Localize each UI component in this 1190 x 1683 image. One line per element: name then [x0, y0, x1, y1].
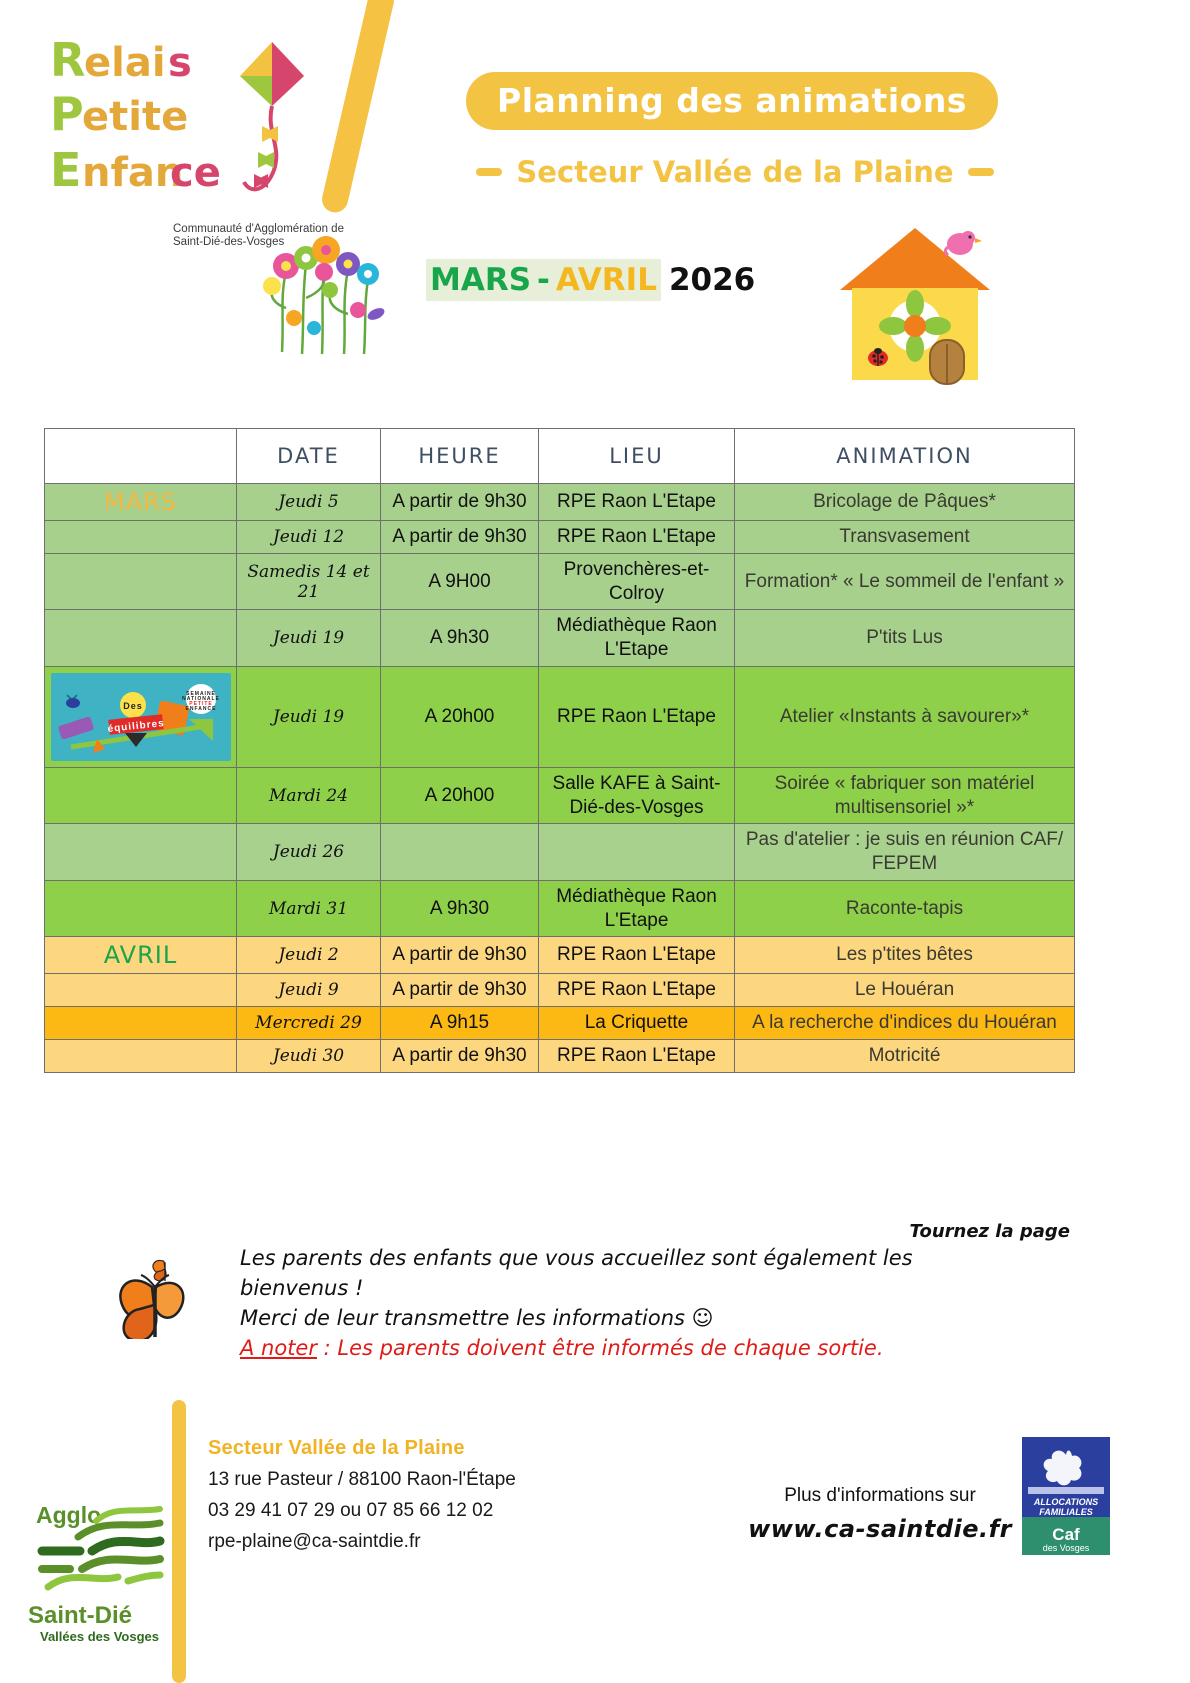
month-label-mars: MARS	[45, 484, 237, 521]
cell-heure	[381, 824, 539, 881]
cell-animation: Les p'tites bêtes	[735, 937, 1075, 974]
cell-animation: P'tits Lus	[735, 610, 1075, 667]
col-header-animation: ANIMATION	[735, 429, 1075, 484]
cell-date: Samedis 14 et 21	[237, 553, 381, 610]
table-row: Jeudi 9A partir de 9h30RPE Raon L'EtapeL…	[45, 974, 1075, 1007]
cell-animation: Raconte-tapis	[735, 880, 1075, 937]
cell-lieu: Médiathèque Raon L'Etape	[539, 880, 735, 937]
cell-lieu: RPE Raon L'Etape	[539, 666, 735, 767]
table-header-row: DATE HEURE LIEU ANIMATION	[45, 429, 1075, 484]
flowers-illustration-icon	[258, 218, 398, 358]
cell-animation: Le Houéran	[735, 974, 1075, 1007]
table-row: AVRILJeudi 2A partir de 9h30RPE Raon L'E…	[45, 937, 1075, 974]
table-row: Jeudi 12A partir de 9h30RPE Raon L'Etape…	[45, 521, 1075, 554]
poster-page: R elai s P etite E nfan ce Communauté	[0, 0, 1190, 1683]
cell-heure: A partir de 9h30	[381, 521, 539, 554]
month-cell-empty	[45, 1039, 237, 1072]
period-label: MARS-AVRIL 2026	[426, 258, 755, 302]
cell-lieu: RPE Raon L'Etape	[539, 521, 735, 554]
cell-date: Jeudi 19	[237, 610, 381, 667]
svg-text:P: P	[50, 87, 84, 141]
caf-line2: FAMILIALES	[1039, 1507, 1093, 1517]
svg-text:ENFANCE: ENFANCE	[186, 706, 217, 712]
cell-lieu: Salle KAFE à Saint-Dié-des-Vosges	[539, 767, 735, 824]
svg-text:R: R	[50, 33, 85, 87]
svg-text:elai: elai	[84, 40, 166, 86]
caf-logo: ALLOCATIONS FAMILIALES Caf des Vosges	[1022, 1437, 1110, 1555]
svg-text:ce: ce	[170, 150, 221, 196]
col-header-heure: HEURE	[381, 429, 539, 484]
cell-animation: A la recherche d'indices du Houéran	[735, 1007, 1075, 1040]
note-line-1: Les parents des enfants que vous accueil…	[240, 1243, 1000, 1303]
cell-heure: A 9h30	[381, 880, 539, 937]
cell-animation: Bricolage de Pâques*	[735, 484, 1075, 521]
month-cell-empty	[45, 824, 237, 881]
svg-text:E: E	[50, 143, 81, 197]
cell-date: Mardi 31	[237, 880, 381, 937]
house-illustration-icon	[830, 222, 1000, 387]
title-pill: Planning des animations	[466, 72, 998, 130]
table-row: Jeudi 26Pas d'atelier : je suis en réuni…	[45, 824, 1075, 881]
rpe-logo-icon: R elai s P etite E nfan ce	[40, 28, 310, 228]
cell-date: Jeudi 9	[237, 974, 381, 1007]
table-body: MARSJeudi 5A partir de 9h30RPE Raon L'Et…	[45, 484, 1075, 1073]
period-month2: AVRIL	[556, 262, 657, 298]
cell-lieu: RPE Raon L'Etape	[539, 937, 735, 974]
month-label-avril: AVRIL	[45, 937, 237, 974]
svg-text:etite: etite	[82, 94, 188, 140]
page-subtitle: Secteur Vallée de la Plaine	[516, 155, 953, 189]
note-alert-label: A noter	[240, 1336, 317, 1360]
cell-date: Jeudi 30	[237, 1039, 381, 1072]
svg-text:s: s	[168, 40, 192, 86]
vertical-yellow-bar	[172, 1400, 186, 1683]
month-cell-empty	[45, 553, 237, 610]
cell-date: Mardi 24	[237, 767, 381, 824]
cell-date: Mercredi 29	[237, 1007, 381, 1040]
svg-text:nfan: nfan	[82, 150, 183, 196]
cell-animation: Motricité	[735, 1039, 1075, 1072]
agglo-logo-bottom: Vallées des Vosges	[40, 1629, 159, 1644]
agglo-logo-middle: Saint-Dié	[28, 1602, 132, 1629]
month-cell-empty	[45, 1007, 237, 1040]
month-cell-empty	[45, 521, 237, 554]
svg-text:Des: Des	[123, 701, 143, 711]
cell-animation: Soirée « fabriquer son matériel multisen…	[735, 767, 1075, 824]
cell-heure: A 9H00	[381, 553, 539, 610]
col-header-date: DATE	[237, 429, 381, 484]
website-link[interactable]: www.ca-saintdie.fr	[738, 1515, 1022, 1543]
period-year: 2026	[661, 262, 755, 298]
butterfly-illustration-icon	[108, 1243, 204, 1339]
period-separator: -	[531, 262, 556, 298]
planning-table: DATE HEURE LIEU ANIMATION MARSJeudi 5A p…	[44, 428, 1075, 1073]
cell-heure: A 20h00	[381, 767, 539, 824]
cell-heure: A partir de 9h30	[381, 974, 539, 1007]
cell-animation: Pas d'atelier : je suis en réunion CAF/ …	[735, 824, 1075, 881]
note-line-2: Merci de leur transmettre les informatio…	[240, 1303, 1000, 1333]
cell-date: Jeudi 12	[237, 521, 381, 554]
caf-line4: des Vosges	[1043, 1543, 1090, 1553]
agglo-logo-top: Agglo	[36, 1502, 101, 1528]
cell-lieu	[539, 824, 735, 881]
cell-heure: A partir de 9h30	[381, 484, 539, 521]
cell-date: Jeudi 26	[237, 824, 381, 881]
dash-right-icon	[968, 168, 994, 176]
page-title: Planning des animations	[466, 72, 998, 130]
cell-date: Jeudi 2	[237, 937, 381, 974]
table-row: Jeudi 30A partir de 9h30RPE Raon L'Etape…	[45, 1039, 1075, 1072]
cell-animation: Atelier «Instants à savourer»*	[735, 666, 1075, 767]
turn-page-note: Tournez la page	[830, 1221, 1070, 1242]
cell-animation: Transvasement	[735, 521, 1075, 554]
month-cell-empty: DeséquilibresSEMAINENATIONALEPETITEENFAN…	[45, 666, 237, 767]
cell-lieu: RPE Raon L'Etape	[539, 974, 735, 1007]
col-header-lieu: LIEU	[539, 429, 735, 484]
month-cell-empty	[45, 610, 237, 667]
month-cell-empty	[45, 974, 237, 1007]
caf-line1: ALLOCATIONS	[1033, 1497, 1098, 1507]
cell-heure: A 9h15	[381, 1007, 539, 1040]
cell-animation: Formation* « Le sommeil de l'enfant »	[735, 553, 1075, 610]
cell-lieu: RPE Raon L'Etape	[539, 484, 735, 521]
table-row: MARSJeudi 5A partir de 9h30RPE Raon L'Et…	[45, 484, 1075, 521]
table-row: Jeudi 19A 9h30Médiathèque Raon L'EtapeP'…	[45, 610, 1075, 667]
dash-left-icon	[476, 168, 502, 176]
table-row: Mercredi 29A 9h15La CriquetteA la recher…	[45, 1007, 1075, 1040]
period-month1: MARS	[430, 262, 531, 298]
semaine-nationale-petite-enfance-banner-icon: DeséquilibresSEMAINENATIONALEPETITEENFAN…	[51, 673, 231, 761]
cell-heure: A 9h30	[381, 610, 539, 667]
cell-heure: A partir de 9h30	[381, 1039, 539, 1072]
contact-address: 13 rue Pasteur / 88100 Raon-l'Étape	[208, 1469, 668, 1491]
cell-lieu: RPE Raon L'Etape	[539, 1039, 735, 1072]
cell-date: Jeudi 5	[237, 484, 381, 521]
table-row: Mardi 24A 20h00Salle KAFE à Saint-Dié-de…	[45, 767, 1075, 824]
contact-block: Secteur Vallée de la Plaine 13 rue Paste…	[208, 1437, 668, 1562]
cell-lieu: Médiathèque Raon L'Etape	[539, 610, 735, 667]
decorative-yellow-stroke	[319, 0, 396, 215]
contact-email[interactable]: rpe-plaine@ca-saintdie.fr	[208, 1531, 668, 1553]
cell-heure: A partir de 9h30	[381, 937, 539, 974]
cell-heure: A 20h00	[381, 666, 539, 767]
cell-date: Jeudi 19	[237, 666, 381, 767]
agglo-saint-die-logo: Agglo Saint-Dié Vallées des Vosges	[18, 1495, 178, 1645]
notes-block: Les parents des enfants que vous accueil…	[240, 1243, 1000, 1363]
month-cell-empty	[45, 767, 237, 824]
contact-title: Secteur Vallée de la Plaine	[208, 1437, 668, 1460]
col-header-blank	[45, 429, 237, 484]
month-cell-empty	[45, 880, 237, 937]
caf-line3: Caf	[1052, 1525, 1080, 1544]
subtitle-row: Secteur Vallée de la Plaine	[450, 152, 1020, 192]
table-row: Samedis 14 et 21A 9H00Provenchères-et-Co…	[45, 553, 1075, 610]
table-row: Mardi 31A 9h30Médiathèque Raon L'EtapeRa…	[45, 880, 1075, 937]
table-row: DeséquilibresSEMAINENATIONALEPETITEENFAN…	[45, 666, 1075, 767]
note-alert-text: : Les parents doivent être informés de c…	[317, 1336, 884, 1360]
cell-lieu: La Criquette	[539, 1007, 735, 1040]
cell-lieu: Provenchères-et-Colroy	[539, 553, 735, 610]
rpe-logo: R elai s P etite E nfan ce Communauté	[40, 28, 310, 228]
note-alert: A noter : Les parents doivent être infor…	[240, 1333, 1000, 1363]
more-info-label: Plus d'informations sur	[740, 1485, 1020, 1507]
contact-phone: 03 29 41 07 29 ou 07 85 66 12 02	[208, 1500, 668, 1522]
